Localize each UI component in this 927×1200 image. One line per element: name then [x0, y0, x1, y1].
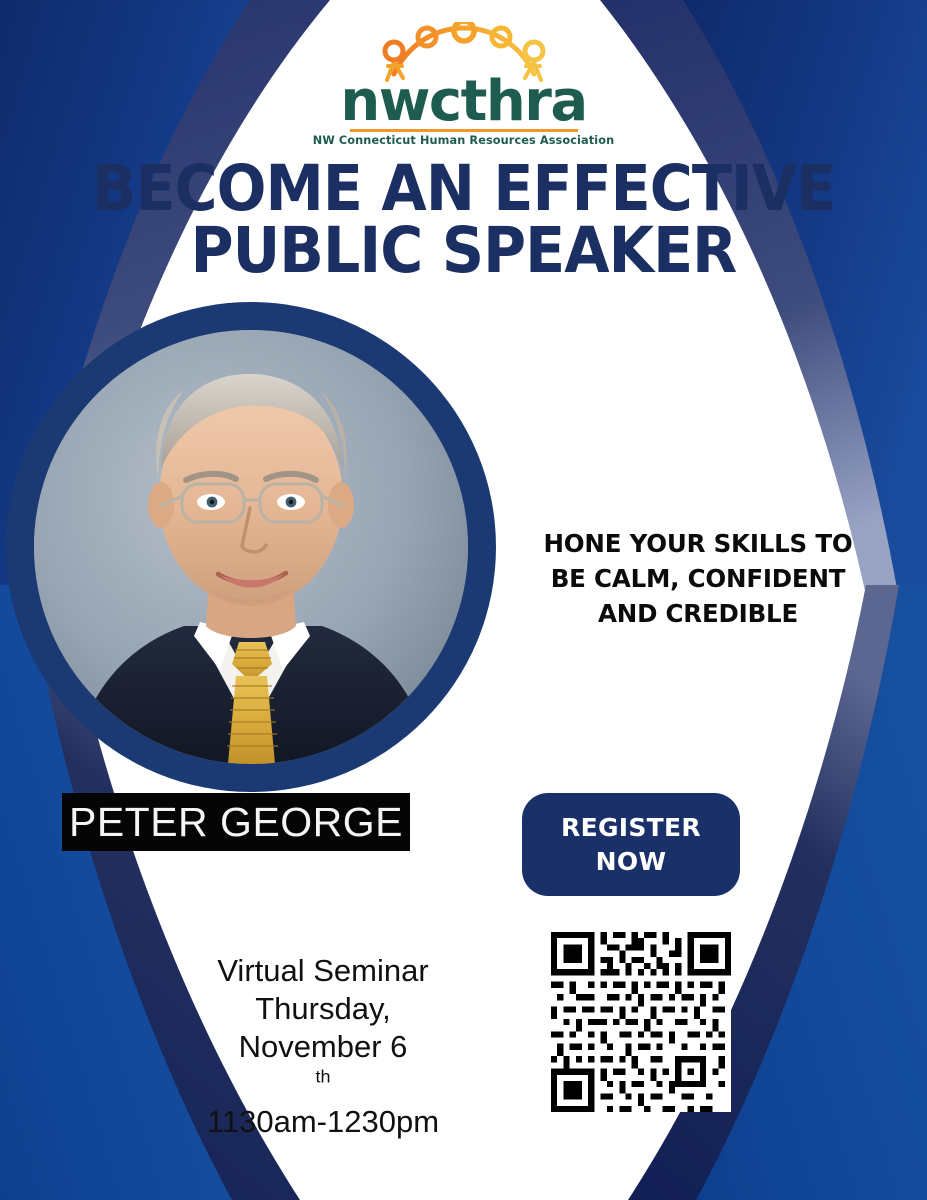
event-details: Virtual Seminar Thursday, November 6th 1… — [128, 952, 518, 1141]
speaker-name: PETER GEORGE — [69, 802, 403, 843]
event-time: 1130am-1230pm — [128, 1103, 518, 1141]
subheading: HONE YOUR SKILLS TO BE CALM, CONFIDENT A… — [512, 527, 884, 631]
brand-logo: nwcthra NW Connecticut Human Resources A… — [0, 22, 927, 147]
speaker-portrait — [6, 302, 496, 792]
logo-wordmark: nwcthra — [340, 76, 586, 128]
event-date-ordinal: th — [316, 1067, 331, 1087]
event-format: Virtual Seminar — [128, 952, 518, 990]
page-title: BECOME AN EFFECTIVE PUBLIC SPEAKER — [32, 158, 894, 281]
headline-line-2: PUBLIC SPEAKER — [32, 220, 894, 282]
event-weekday: Thursday, — [128, 990, 518, 1028]
register-label-line-2: NOW — [596, 846, 667, 877]
subheading-line-3: AND CREDIBLE — [512, 597, 884, 632]
event-date-text: November 6 — [128, 1028, 518, 1066]
poster: nwcthra NW Connecticut Human Resources A… — [0, 0, 927, 1200]
qr-code[interactable] — [551, 932, 731, 1112]
logo-underline — [350, 129, 578, 132]
speaker-name-banner: PETER GEORGE — [62, 793, 410, 851]
event-date: November 6th — [128, 1028, 518, 1104]
subheading-line-2: BE CALM, CONFIDENT — [512, 562, 884, 597]
subheading-line-1: HONE YOUR SKILLS TO — [512, 527, 884, 562]
logo-tagline: NW Connecticut Human Resources Associati… — [313, 134, 614, 147]
register-now-button[interactable]: REGISTER NOW — [522, 793, 740, 896]
portrait-photo — [34, 330, 468, 764]
register-label-line-1: REGISTER — [561, 812, 701, 843]
